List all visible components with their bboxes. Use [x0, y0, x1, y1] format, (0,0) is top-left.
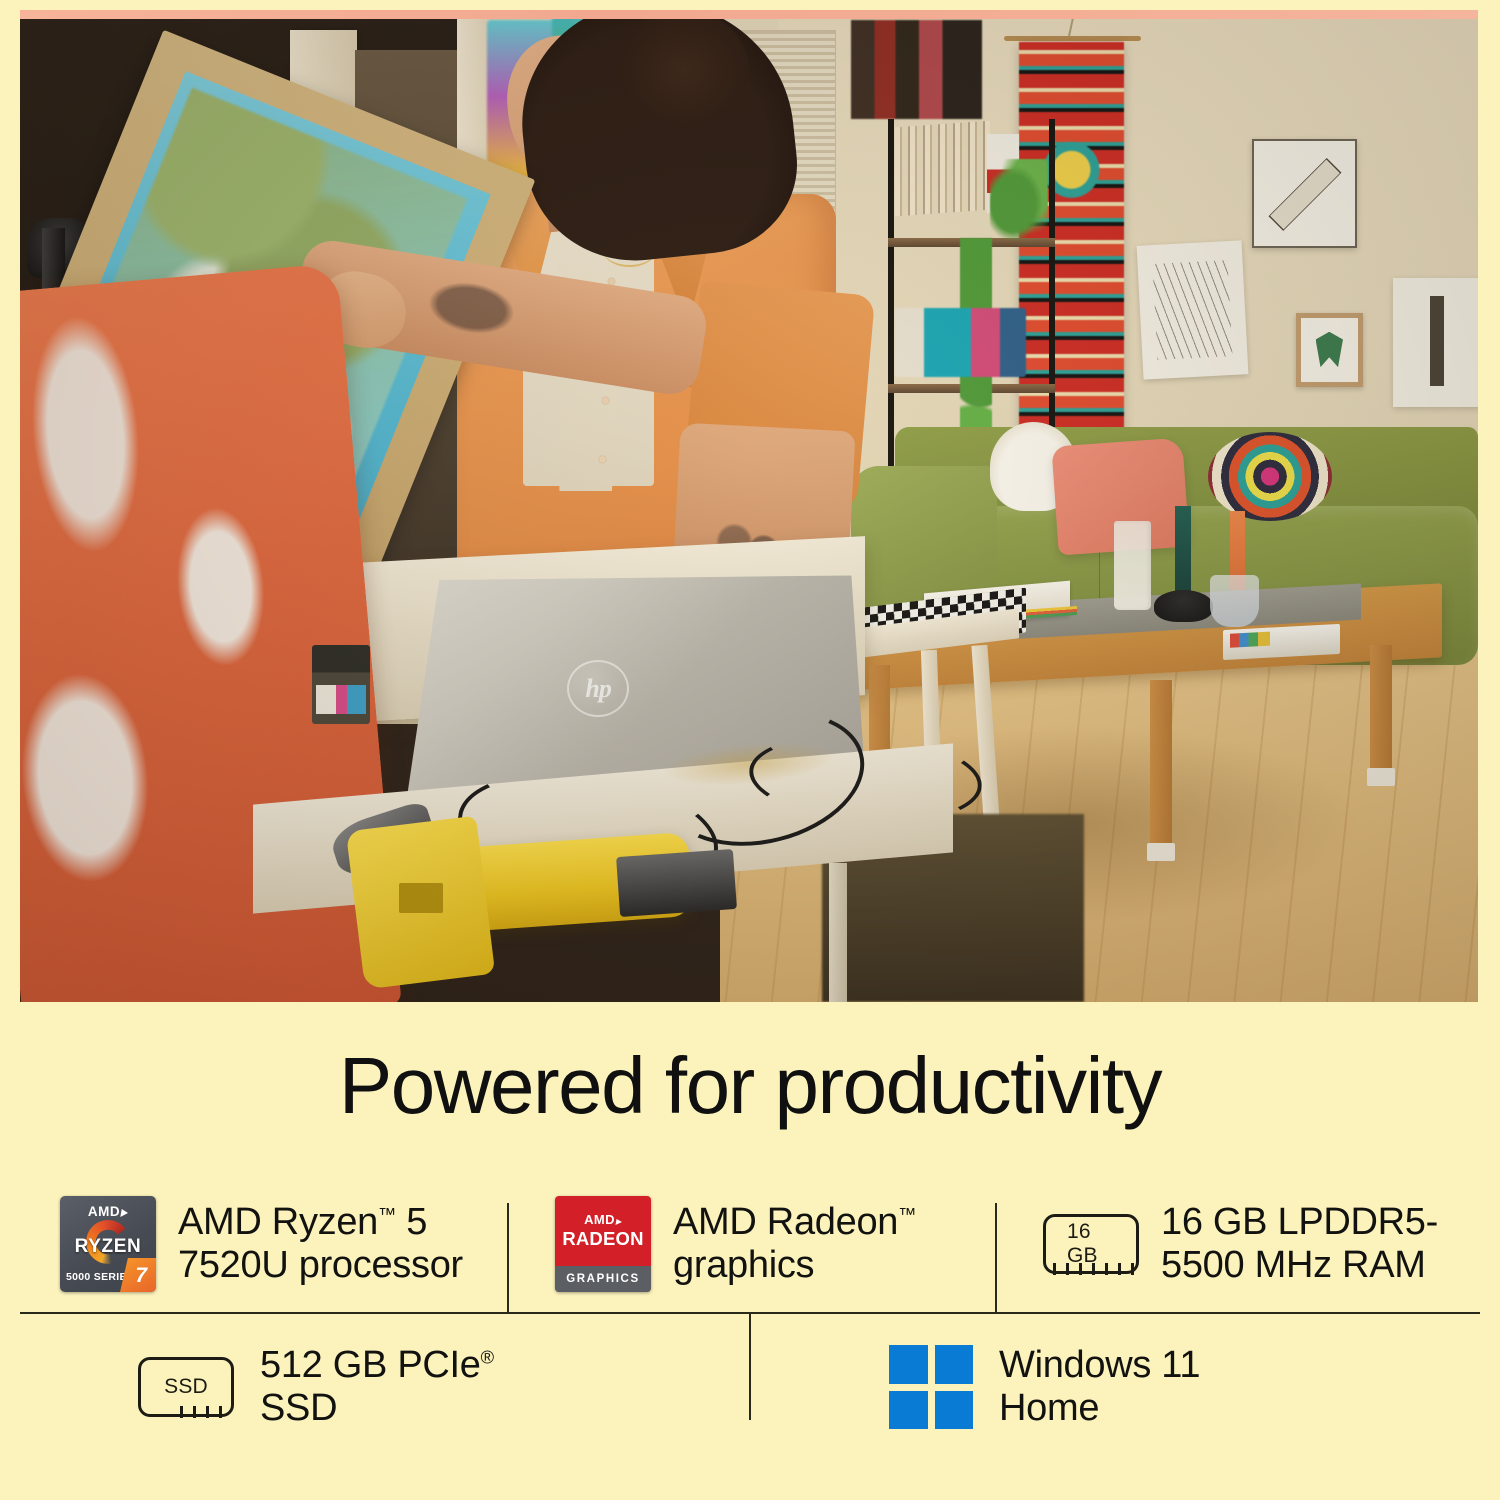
spec-label-line2: SSD: [260, 1387, 337, 1429]
spec-label-operating-system: Windows 11 Home: [999, 1344, 1200, 1429]
ink-jar-label: [316, 685, 366, 715]
ryzen-amd-text: AMD: [88, 1204, 120, 1219]
shelf-items: [895, 308, 1026, 377]
spec-label-line1: AMD Ryzen: [178, 1201, 378, 1243]
windows-tile: [935, 1345, 974, 1384]
spec-label-line1: Windows 11: [999, 1344, 1200, 1386]
windows-tile: [889, 1345, 928, 1384]
spec-item-processor: AMD RYZEN 5000 SERIES 7 AMD Ryzen™ 5 752…: [20, 1176, 507, 1312]
radeon-badge-top: AMD RADEON: [555, 1196, 651, 1266]
spec-label-line2: 5500 MHz RAM: [1161, 1244, 1426, 1286]
amd-ryzen-badge-icon: AMD RYZEN 5000 SERIES 7: [60, 1196, 156, 1292]
radeon-badge-bottom: GRAPHICS: [555, 1266, 651, 1292]
memory-chip-icon: 16 GB: [1043, 1214, 1139, 1274]
framed-diamond-art: [1252, 139, 1357, 248]
hp-logo-icon: [567, 660, 630, 718]
crochet-round-pillow: [1208, 432, 1332, 521]
page-title: Powered for productivity: [0, 1046, 1500, 1126]
wall-sketch-paper: [1136, 240, 1248, 379]
spec-label-line2: Home: [999, 1387, 1099, 1429]
ssd-chip-icon: SSD: [138, 1357, 234, 1417]
trademark-symbol: ™: [378, 1204, 396, 1225]
spec-label-line2: graphics: [673, 1244, 814, 1286]
spec-row-1: AMD RYZEN 5000 SERIES 7 AMD Ryzen™ 5 752…: [20, 1176, 1480, 1312]
spec-label-storage: 512 GB PCIe® SSD: [260, 1344, 494, 1429]
registered-symbol: ®: [481, 1347, 494, 1368]
trademark-symbol: ™: [898, 1204, 916, 1225]
spec-label-processor: AMD Ryzen™ 5 7520U processor: [178, 1201, 463, 1286]
shelf-top-boxes: [851, 20, 982, 119]
radeon-amd-text: AMD: [584, 1212, 615, 1227]
white-candle-jar: [1114, 521, 1152, 610]
hero-top-accent-strip: [20, 10, 1478, 19]
spec-item-graphics: AMD RADEON GRAPHICS AMD Radeon™ graphics: [507, 1176, 995, 1312]
framed-butterfly-art: [1296, 313, 1363, 387]
spec-label-line1: 512 GB PCIe: [260, 1344, 481, 1386]
ryzen-tier-number: 7: [135, 1264, 147, 1288]
radeon-wordmark: RADEON: [562, 1228, 643, 1250]
amd-radeon-badge-icon: AMD RADEON GRAPHICS: [555, 1196, 651, 1292]
figure-drawing-poster: [1393, 278, 1478, 407]
spec-grid: AMD RYZEN 5000 SERIES 7 AMD Ryzen™ 5 752…: [20, 1176, 1480, 1448]
table-leg-cap: [1147, 843, 1175, 861]
chip-caption: SSD: [164, 1375, 208, 1399]
ryzen-amd-wordmark: AMD: [60, 1204, 156, 1219]
ryzen-wordmark: RYZEN: [60, 1236, 156, 1258]
coffee-table-leg: [1370, 645, 1392, 774]
radeon-graphics-text: GRAPHICS: [566, 1273, 640, 1285]
spec-row-2: SSD 512 GB PCIe® SSD Windows 11 Home: [20, 1312, 1480, 1448]
spec-label-line2: 7520U processor: [178, 1244, 463, 1286]
work-table-leg: [829, 863, 846, 1002]
heat-gun-trigger: [399, 883, 443, 913]
amd-arrow-icon: [120, 1209, 128, 1217]
spec-item-operating-system: Windows 11 Home: [749, 1326, 1480, 1448]
spec-item-memory: 16 GB 16 GB LPDDR5- 5500 MHz RAM: [995, 1176, 1480, 1312]
shelf-plant: [990, 159, 1048, 248]
windows-logo-icon: [889, 1345, 973, 1429]
marker-pack: [1223, 624, 1340, 660]
teal-taper-candle: [1175, 506, 1191, 595]
hero-scene: [20, 10, 1478, 1002]
spec-label-line1: AMD Radeon: [673, 1201, 898, 1243]
spec-item-storage: SSD 512 GB PCIe® SSD: [20, 1326, 749, 1448]
hero-image: [20, 10, 1478, 1002]
chip-pins: [180, 1406, 222, 1418]
heat-gun-plug: [616, 849, 736, 917]
chip-caption: 16 GB: [1067, 1220, 1115, 1268]
tapestry-rod: [1004, 36, 1141, 41]
windows-tile: [889, 1391, 928, 1430]
shirt-button: [602, 397, 609, 404]
amd-arrow-icon: [615, 1219, 622, 1225]
radeon-amd-wordmark: AMD: [584, 1212, 622, 1227]
books-on-shelf: [895, 121, 990, 217]
windows-tile: [935, 1391, 974, 1430]
spec-label-memory: 16 GB LPDDR5- 5500 MHz RAM: [1161, 1201, 1438, 1286]
spec-label-graphics: AMD Radeon™ graphics: [673, 1201, 916, 1286]
spec-label-line1: 16 GB LPDDR5-: [1161, 1201, 1438, 1243]
black-candle-holder: [1154, 590, 1212, 622]
glass-candle-holder: [1210, 575, 1260, 627]
spec-label-line1-tail: 5: [396, 1201, 427, 1243]
table-leg-cap: [1367, 768, 1395, 786]
person-hair-bun: [618, 10, 749, 129]
chip-pins: [1053, 1263, 1134, 1275]
ryzen-tier-tag: 7: [120, 1258, 156, 1292]
coffee-table-leg: [1150, 680, 1172, 849]
